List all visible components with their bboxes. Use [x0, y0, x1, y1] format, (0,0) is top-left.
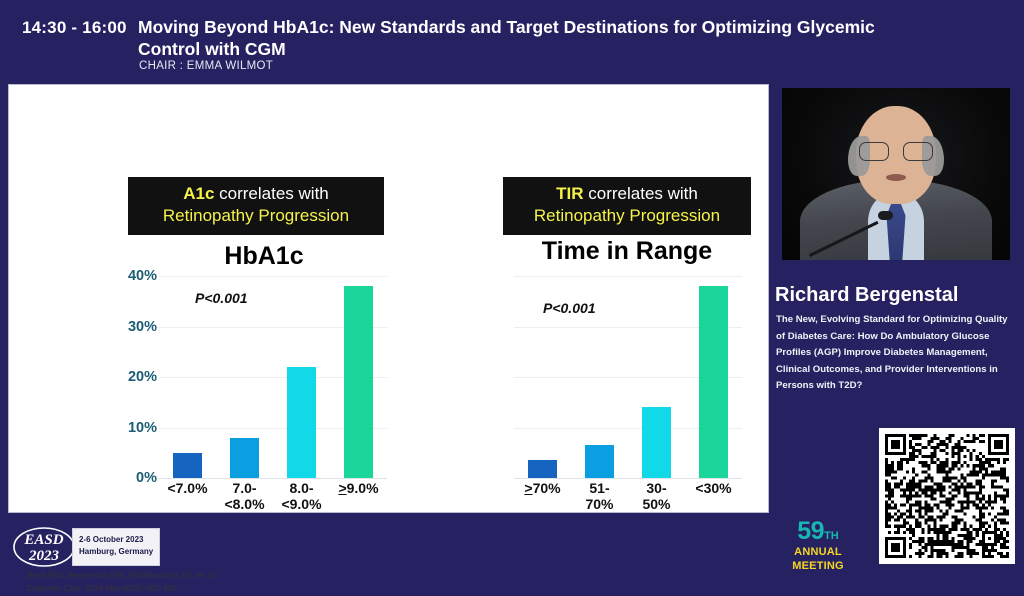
x-axis-category-time-in-range-3: <30%	[685, 480, 742, 496]
session-title: Moving Beyond HbA1c: New Standards and T…	[138, 16, 918, 61]
svg-text:EASD: EASD	[23, 532, 63, 548]
x-axis-tick-label: 70%	[571, 496, 628, 512]
x-axis-category-time-in-range-1: 51-70%	[571, 480, 628, 512]
annual-meeting-badge: 59TH ANNUAL MEETING	[773, 520, 863, 573]
slide-content-panel: A1c correlates with Retinopathy Progress…	[9, 85, 768, 512]
bar-hba1c-0	[173, 453, 203, 478]
gridline	[159, 276, 387, 277]
x-axis-category-hba1c-0: <7.0%	[159, 480, 216, 496]
plot-area-hba1c: <7.0%7.0-<8.0%8.0-<9.0%>9.0%	[159, 266, 387, 478]
citation-line-2: Diabetes Care 2019 Mar;42(3):400-405.	[27, 582, 218, 595]
x-axis-tick-label: >70%	[514, 480, 571, 496]
x-axis-tick-label: <30%	[685, 480, 742, 496]
x-axis-tick-label: 51-	[571, 480, 628, 496]
speaker-name: Richard Bergenstal	[775, 284, 1015, 307]
event-city: Hamburg, Germany	[79, 546, 154, 558]
callout-tir: TIR correlates with Retinopathy Progress…	[503, 177, 751, 235]
presentation-slide: 14:30 - 16:00 Moving Beyond HbA1c: New S…	[0, 0, 1024, 573]
meeting-label-2: MEETING	[773, 560, 863, 572]
session-time: 14:30 - 16:00	[22, 18, 127, 38]
x-axis-tick-label: >9.0%	[330, 480, 387, 496]
y-axis-hba1c: 0%10%20%30%40%	[97, 266, 157, 478]
easd-logo-icon: EASD 2023	[12, 526, 76, 568]
svg-text:2023: 2023	[28, 548, 60, 564]
callout-tir-line2: Retinopathy Progression	[513, 205, 741, 227]
x-axis-tick-label: 7.0-	[216, 480, 273, 496]
y-axis-tick-label: 10%	[97, 420, 157, 436]
event-date-badge: 2-6 October 2023 Hamburg, Germany	[72, 528, 160, 566]
x-axis-tick-label: <8.0%	[216, 496, 273, 512]
callout-a1c-rest: correlates with	[214, 184, 328, 203]
y-axis-tick-label: 0%	[97, 470, 157, 486]
bar-time-in-range-0	[528, 460, 558, 478]
x-axis-category-time-in-range-2: 30-50%	[628, 480, 685, 512]
x-axis-tick-label: <7.0%	[159, 480, 216, 496]
callout-a1c-line2: Retinopathy Progression	[138, 205, 374, 227]
x-axis-tick-label: <9.0%	[273, 496, 330, 512]
gridline	[159, 478, 387, 479]
callout-a1c-keyword: A1c	[183, 184, 214, 203]
session-header: 14:30 - 16:00 Moving Beyond HbA1c: New S…	[0, 0, 1024, 84]
y-axis-tick-label: 20%	[97, 369, 157, 385]
session-chair: CHAIR : EMMA WILMOT	[139, 60, 273, 72]
gridline	[514, 478, 742, 479]
plot-area-time-in-range: >70%51-70%30-50%<30%	[514, 266, 742, 478]
bar-time-in-range-3	[699, 286, 729, 478]
meeting-label-1: ANNUAL	[773, 546, 863, 558]
qr-code[interactable]	[879, 428, 1015, 564]
event-date: 2-6 October 2023	[79, 534, 154, 546]
gridline	[514, 276, 742, 277]
x-axis-tick-label: 50%	[628, 496, 685, 512]
meeting-ordinal: TH	[824, 530, 839, 542]
callout-a1c: A1c correlates with Retinopathy Progress…	[128, 177, 384, 235]
bar-hba1c-2	[287, 367, 317, 478]
photo-mouth	[886, 174, 906, 181]
x-axis-category-time-in-range-0: >70%	[514, 480, 571, 496]
x-axis-category-hba1c-2: 8.0-<9.0%	[273, 480, 330, 512]
meeting-number: 59	[797, 517, 824, 545]
y-axis-tick-label: 30%	[97, 319, 157, 335]
x-axis-tick-label: 30-	[628, 480, 685, 496]
callout-tir-rest: correlates with	[584, 184, 698, 203]
bar-hba1c-3	[344, 286, 374, 478]
y-axis-tick-label: 40%	[97, 268, 157, 284]
photo-eyeglasses	[859, 142, 933, 159]
speaker-talk-title: The New, Evolving Standard for Optimizin…	[776, 312, 1008, 395]
chart-title-time-in-range: Time in Range	[499, 237, 755, 266]
callout-tir-keyword: TIR	[556, 184, 583, 203]
speaker-photo	[782, 88, 1010, 260]
citation-line-1: Beck RW, Bergenstal RM, Riddlesworth TD,…	[27, 569, 218, 582]
photo-microphone-head	[878, 211, 893, 220]
bar-time-in-range-1	[585, 445, 615, 478]
meeting-number-row: 59TH	[773, 520, 863, 544]
bar-hba1c-1	[230, 438, 260, 478]
x-axis-category-hba1c-1: 7.0-<8.0%	[216, 480, 273, 512]
x-axis-tick-label: 8.0-	[273, 480, 330, 496]
qr-code-image	[885, 434, 1009, 558]
x-axis-category-hba1c-3: >9.0%	[330, 480, 387, 496]
bar-time-in-range-2	[642, 407, 672, 478]
